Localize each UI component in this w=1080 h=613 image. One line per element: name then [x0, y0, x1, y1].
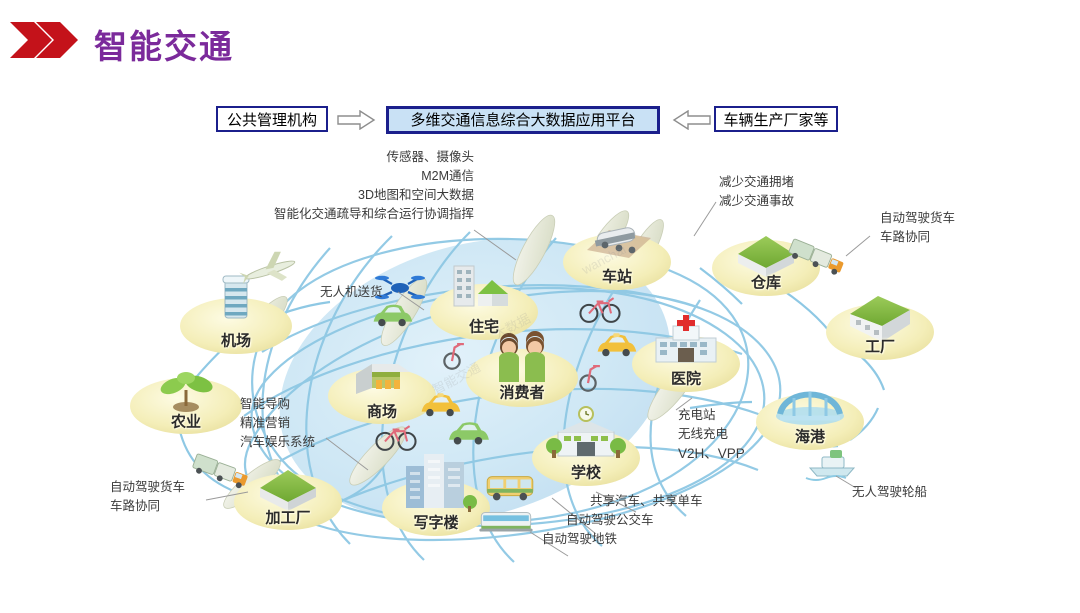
- pod-consumer: [466, 349, 578, 407]
- annotation-autonomous-truck-left: 自动驾驶货车 车路协同: [110, 478, 185, 516]
- annotation-retail-services: 智能导购 精准营销 汽车娱乐系统: [240, 395, 315, 452]
- arrow-right-outline-icon: [336, 110, 376, 130]
- annotation-autonomous-ship: 无人驾驶轮船: [852, 483, 927, 502]
- double-chevron-icon: [8, 18, 78, 62]
- topbar: 公共管理机构 多维交通信息综合大数据应用平台 车辆生产厂家等: [0, 106, 1080, 142]
- boat-icon: [806, 450, 854, 480]
- box-vehicle-manufacturers[interactable]: 车辆生产厂家等: [714, 106, 838, 132]
- annotation-traffic-benefits: 减少交通拥堵 减少交通事故: [719, 173, 794, 211]
- subway-train-icon: [479, 513, 532, 532]
- box-big-data-platform[interactable]: 多维交通信息综合大数据应用平台: [386, 106, 660, 134]
- box-public-management[interactable]: 公共管理机构: [216, 106, 328, 132]
- control-tower-icon: [223, 276, 249, 318]
- annotation-shared-mobility: 共享汽车、共享单车 自动驾驶公交车 自动驾驶地铁: [590, 492, 703, 549]
- slide-root: 智能交通 公共管理机构 多维交通信息综合大数据应用平台 车辆生产厂家等: [0, 0, 1080, 613]
- annotation-drone-delivery: 无人机送货: [320, 283, 383, 302]
- arrow-left-outline-icon: [672, 110, 712, 130]
- annotation-charging-services: 充电站 无线充电 V2H、VPP: [678, 406, 745, 463]
- annotation-platform-capabilities: 传感器、摄像头 M2M通信 3D地图和空间大数据 智能化交通疏导和综合运行协调指…: [118, 148, 474, 224]
- page-title: 智能交通: [94, 20, 234, 68]
- transport-ecosystem-diagram: 机场 农业 加工厂 商场 住宅 车站 仓库 工厂 海港 医院 消费者 学校 写字…: [0, 140, 1080, 613]
- annotation-autonomous-truck-right: 自动驾驶货车 车路协同: [880, 209, 955, 247]
